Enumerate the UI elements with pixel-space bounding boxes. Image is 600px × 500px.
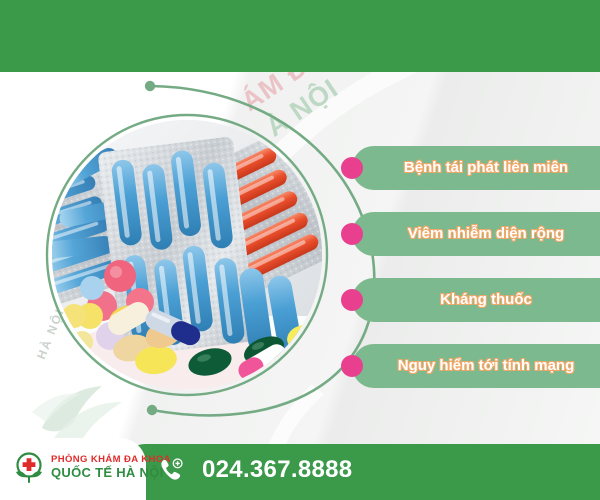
bullet-dot-icon (341, 223, 363, 245)
header-bar (0, 0, 600, 72)
phone-plus-icon (158, 457, 184, 483)
risk-card-label: Viêm nhiễm diện rộng (408, 225, 564, 244)
bullet-dot-icon (341, 355, 363, 377)
clinic-logo-line2: QUỐC TẾ HÀ NỘI (51, 466, 171, 479)
clinic-logo[interactable]: PHÒNG KHÁM ĐA KHOA QUỐC TẾ HÀ NỘI (12, 450, 171, 484)
bullet-dot-icon (341, 289, 363, 311)
clinic-logo-line1: PHÒNG KHÁM ĐA KHOA (51, 455, 171, 465)
pill-photo (52, 120, 322, 390)
phone-number: 024.367.8888 (202, 456, 352, 484)
medical-cross-emblem-icon (12, 450, 46, 484)
risk-card-2[interactable]: Viêm nhiễm diện rộng (352, 212, 600, 256)
risk-card-label: Kháng thuốc (440, 291, 532, 310)
risk-card-3[interactable]: Kháng thuốc (352, 278, 600, 322)
risk-card-1[interactable]: Bệnh tái phát liên miên (352, 146, 600, 190)
risk-card-4[interactable]: Nguy hiểm tới tính mạng (352, 344, 600, 388)
risk-card-label: Bệnh tái phát liên miên (404, 159, 568, 178)
risk-card-list: Bệnh tái phát liên miên Viêm nhiễm diện … (352, 146, 600, 410)
infographic-root: ÁM ĐA KHOA À NỘI HÀ NỘI QUỐC TẾ (0, 0, 600, 500)
risk-card-label: Nguy hiểm tới tính mạng (398, 357, 575, 376)
phone-contact[interactable]: 024.367.8888 (158, 456, 352, 484)
footer-bar: PHÒNG KHÁM ĐA KHOA QUỐC TẾ HÀ NỘI 024.36… (0, 438, 600, 500)
bullet-dot-icon (341, 157, 363, 179)
clinic-logo-text: PHÒNG KHÁM ĐA KHOA QUỐC TẾ HÀ NỘI (51, 455, 171, 480)
